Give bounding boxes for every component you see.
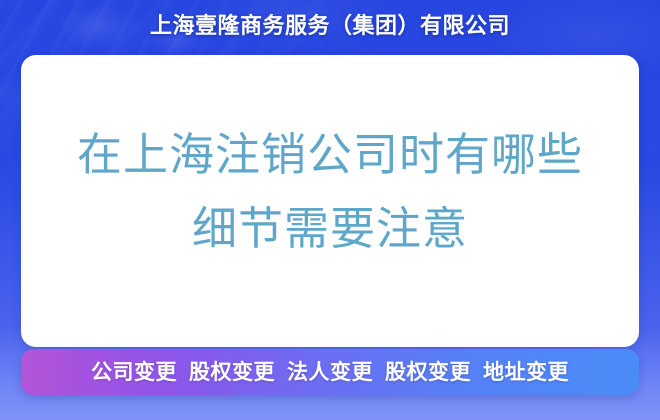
content-card-body: 在上海注销公司时有哪些 细节需要注意: [21, 55, 639, 347]
service-tag-item[interactable]: 股权变更: [385, 360, 471, 384]
service-tag-item[interactable]: 地址变更: [483, 360, 569, 384]
service-tag-item[interactable]: 法人变更: [287, 360, 373, 384]
service-tag-item[interactable]: 公司变更: [91, 360, 177, 384]
promo-banner: 上海壹隆商务服务（集团）有限公司 在上海注销公司时有哪些 细节需要注意 公司变更…: [0, 0, 660, 420]
service-tag-list: 公司变更股权变更法人变更股权变更地址变更: [91, 349, 569, 395]
headline-line-1: 在上海注销公司时有哪些: [77, 118, 583, 192]
service-tag-item[interactable]: 股权变更: [189, 360, 275, 384]
company-name-header: 上海壹隆商务服务（集团）有限公司: [0, 12, 660, 42]
service-tag-bar[interactable]: 公司变更股权变更法人变更股权变更地址变更: [21, 349, 639, 395]
headline-line-2: 细节需要注意: [192, 192, 468, 266]
content-card: 在上海注销公司时有哪些 细节需要注意: [21, 55, 639, 347]
